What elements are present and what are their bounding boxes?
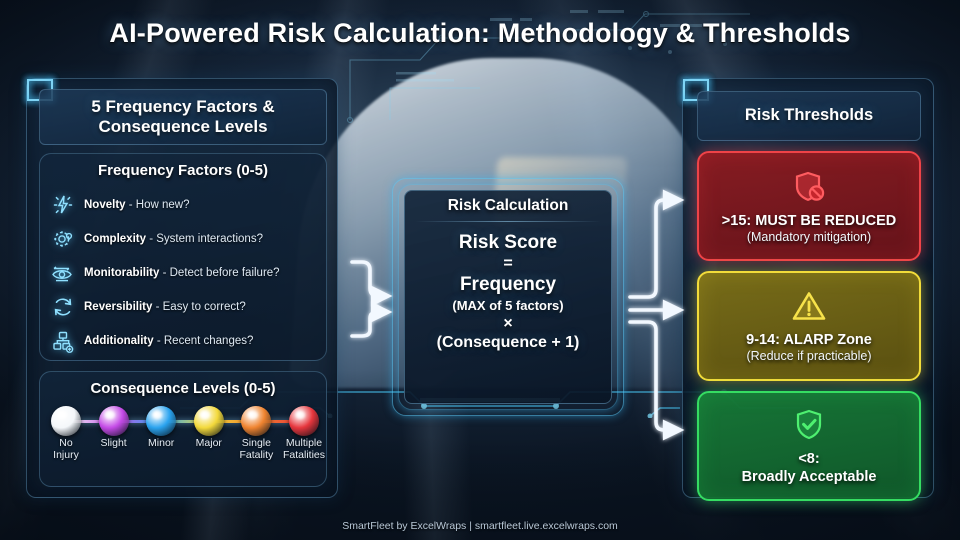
risk-calculation-header: Risk Calculation [405, 197, 611, 215]
factor-additionality-text: Additionality - Recent changes? [84, 335, 253, 347]
warning-triangle-icon [790, 289, 828, 330]
right-panel-header: Risk Thresholds [697, 91, 921, 141]
factor-novelty-text: Novelty - How new? [84, 199, 189, 211]
consequence-label: Major [183, 438, 235, 450]
factor-reversibility-text: Reversibility - Easy to correct? [84, 301, 246, 313]
refresh-cycle-icon [48, 294, 78, 320]
formula-frequency: Frequency [405, 273, 611, 296]
factor-complexity-text: Complexity - System interactions? [84, 233, 263, 245]
consequence-dot[interactable] [99, 406, 129, 436]
formula-consequence: (Consequence + 1) [405, 333, 611, 352]
threshold-sub-label: (Reduce if practicable) [746, 349, 871, 363]
formula-risk-score: Risk Score [405, 231, 611, 254]
factor-monitorability-desc: - Detect before failure? [163, 267, 280, 279]
consequence-levels-title: Consequence Levels (0-5) [40, 380, 326, 397]
consequence-dot[interactable] [51, 406, 81, 436]
factor-novelty[interactable]: Novelty - How new? [48, 188, 320, 221]
consequence-labels: NoInjurySlightMinorMajorSingleFatalityMu… [50, 438, 318, 480]
threshold-card-alarp-zone[interactable]: 9-14: ALARP Zone (Reduce if practicable) [697, 271, 921, 381]
threshold-sub-label: Broadly Acceptable [742, 469, 877, 486]
blocks-plus-icon [48, 328, 78, 354]
frequency-factors-box: Frequency Factors (0-5) Novelty - How ne… [39, 153, 327, 361]
factor-monitorability-text: Monitorability - Detect before failure? [84, 267, 280, 279]
factor-complexity-name: Complexity [84, 233, 146, 245]
consequence-scale [50, 404, 318, 438]
factor-additionality-desc: - Recent changes? [157, 335, 254, 347]
risk-formula: Risk Score = Frequency (MAX of 5 factors… [405, 231, 611, 352]
formula-equals: = [405, 254, 611, 273]
threshold-range-label: >15: MUST BE REDUCED [722, 213, 896, 230]
factor-novelty-name: Novelty [84, 199, 126, 211]
consequence-label-line2: Injury [40, 450, 92, 462]
consequence-dot[interactable] [241, 406, 271, 436]
footer-credit: SmartFleet by ExcelWraps | smartfleet.li… [0, 520, 960, 532]
factor-novelty-desc: - How new? [129, 199, 190, 211]
frequency-factors-list: Novelty - How new? Complexi [48, 188, 320, 358]
risk-calculation-panel: Risk Calculation Risk Score = Frequency … [404, 190, 612, 404]
consequence-label: Minor [135, 438, 187, 450]
left-panel-header-line1: 5 Frequency Factors & [91, 97, 274, 117]
consequence-label-line1: Minor [135, 438, 187, 450]
consequence-label: NoInjury [40, 438, 92, 462]
consequence-label-line2: Fatality [230, 450, 282, 462]
infographic-stage: AI-Powered Risk Calculation: Methodology… [0, 0, 960, 540]
threshold-range-label: 9-14: ALARP Zone [746, 332, 872, 349]
eye-icon [48, 260, 78, 286]
consequence-dot[interactable] [289, 406, 319, 436]
threshold-sub-label: (Mandatory mitigation) [747, 230, 871, 244]
left-panel-header: 5 Frequency Factors & Consequence Levels [39, 89, 327, 145]
shield-check-icon [790, 406, 828, 449]
page-title: AI-Powered Risk Calculation: Methodology… [0, 18, 960, 49]
consequence-label: SingleFatality [230, 438, 282, 462]
consequence-label-line1: Single [230, 438, 282, 450]
factor-monitorability-name: Monitorability [84, 267, 159, 279]
factor-additionality-name: Additionality [84, 335, 154, 347]
factor-additionality[interactable]: Additionality - Recent changes? [48, 324, 320, 357]
consequence-label-line2: Fatalities [278, 450, 330, 462]
formula-times: × [405, 314, 611, 333]
header-divider [415, 221, 601, 222]
factor-reversibility-desc: - Easy to correct? [156, 301, 246, 313]
consequence-dot[interactable] [194, 406, 224, 436]
threshold-card-broadly-acceptable[interactable]: <8: Broadly Acceptable [697, 391, 921, 501]
lightning-bolt-icon [48, 192, 78, 218]
consequence-levels-box: Consequence Levels (0-5) NoInjurySlightM… [39, 371, 327, 487]
factor-reversibility-name: Reversibility [84, 301, 152, 313]
threshold-card-must-be-reduced[interactable]: >15: MUST BE REDUCED (Mandatory mitigati… [697, 151, 921, 261]
gear-icon [48, 226, 78, 252]
consequence-label-line1: Multiple [278, 438, 330, 450]
consequence-label: MultipleFatalities [278, 438, 330, 462]
factor-complexity-desc: - System interactions? [149, 233, 263, 245]
consequence-label: Slight [88, 438, 140, 450]
left-panel: 5 Frequency Factors & Consequence Levels… [26, 78, 338, 498]
threshold-range-label: <8: [798, 451, 819, 468]
frequency-factors-title: Frequency Factors (0-5) [40, 162, 326, 179]
consequence-label-line1: No [40, 438, 92, 450]
formula-frequency-note: (MAX of 5 factors) [405, 297, 611, 315]
center-panel-wrapper: Risk Calculation Risk Score = Frequency … [392, 178, 624, 416]
right-panel: Risk Thresholds >15: MUST BE REDUCED (Ma… [682, 78, 934, 498]
factor-monitorability[interactable]: Monitorability - Detect before failure? [48, 256, 320, 289]
shield-prohibited-icon [790, 168, 828, 211]
consequence-label-line1: Slight [88, 438, 140, 450]
factor-complexity[interactable]: Complexity - System interactions? [48, 222, 320, 255]
left-panel-header-line2: Consequence Levels [91, 117, 274, 137]
factor-reversibility[interactable]: Reversibility - Easy to correct? [48, 290, 320, 323]
consequence-dot[interactable] [146, 406, 176, 436]
consequence-label-line1: Major [183, 438, 235, 450]
